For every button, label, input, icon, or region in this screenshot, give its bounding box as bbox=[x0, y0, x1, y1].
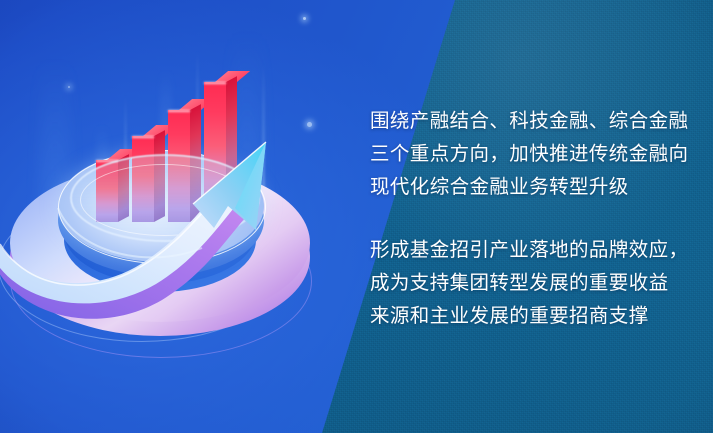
paragraph-1-line-3: 现代化综合金融业务转型升级 bbox=[370, 171, 680, 204]
paragraph-2: 形成基金招引产业落地的品牌效应， 成为支持集团转型发展的重要收益 来源和主业发展… bbox=[370, 234, 680, 333]
paragraph-2-line-3: 来源和主业发展的重要招商支撑 bbox=[370, 300, 680, 333]
paragraph-1-line-2: 三个重点方向，加快推进传统金融向 bbox=[370, 138, 680, 171]
bar-top-highlight bbox=[204, 82, 226, 84]
particle-dot bbox=[68, 86, 70, 88]
platform-front-arc bbox=[52, 152, 272, 272]
banner-root: 围绕产融结合、科技金融、综合金融 三个重点方向，加快推进传统金融向 现代化综合金… bbox=[0, 0, 713, 433]
paragraph-1-line-1: 围绕产融结合、科技金融、综合金融 bbox=[370, 105, 680, 138]
paragraph-2-line-1: 形成基金招引产业落地的品牌效应， bbox=[370, 234, 680, 267]
copy-block: 围绕产融结合、科技金融、综合金融 三个重点方向，加快推进传统金融向 现代化综合金… bbox=[370, 105, 680, 333]
paragraph-2-line-2: 成为支持集团转型发展的重要收益 bbox=[370, 267, 680, 300]
isometric-growth-illustration bbox=[0, 108, 337, 358]
particle-dot bbox=[303, 17, 306, 20]
paragraph-1: 围绕产融结合、科技金融、综合金融 三个重点方向，加快推进传统金融向 现代化综合金… bbox=[370, 105, 680, 204]
